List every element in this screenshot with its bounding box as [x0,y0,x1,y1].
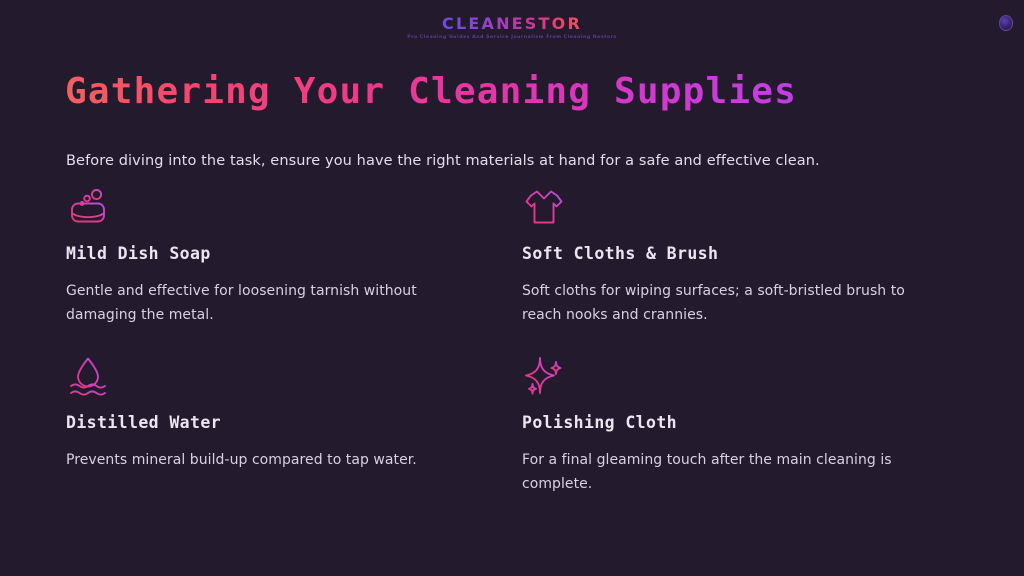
supplies-grid: Mild Dish Soap Gentle and effective for … [66,185,966,496]
supply-item: Distilled Water Prevents mineral build-u… [66,354,522,496]
supply-title: Soft Cloths & Brush [522,244,966,264]
brand-tagline: Pro Cleaning Guides And Service Journali… [407,36,616,41]
supply-title: Polishing Cloth [522,413,966,433]
supply-item: Mild Dish Soap Gentle and effective for … [66,185,522,327]
brand-wordmark: CLEANESTOR [442,16,582,32]
page-subtitle: Before diving into the task, ensure you … [66,151,820,172]
supply-item: Soft Cloths & Brush Soft cloths for wipi… [522,185,966,327]
supply-title: Mild Dish Soap [66,244,522,264]
supply-description: Prevents mineral build-up compared to ta… [66,448,466,472]
supply-description: Soft cloths for wiping surfaces; a soft-… [522,279,922,327]
brand-header: CLEANESTOR Pro Cleaning Guides And Servi… [0,16,1024,41]
page-title: Gathering Your Cleaning Supplies [65,70,797,114]
t-shirt-cloth-icon [522,185,566,229]
supply-title: Distilled Water [66,413,522,433]
soap-bar-icon [66,185,110,229]
water-droplet-icon [66,354,110,398]
supply-description: Gentle and effective for loosening tarni… [66,279,466,327]
logo-orb-icon [999,15,1013,31]
supply-description: For a final gleaming touch after the mai… [522,448,922,496]
supply-item: Polishing Cloth For a final gleaming tou… [522,354,966,496]
sparkles-icon [522,354,566,398]
